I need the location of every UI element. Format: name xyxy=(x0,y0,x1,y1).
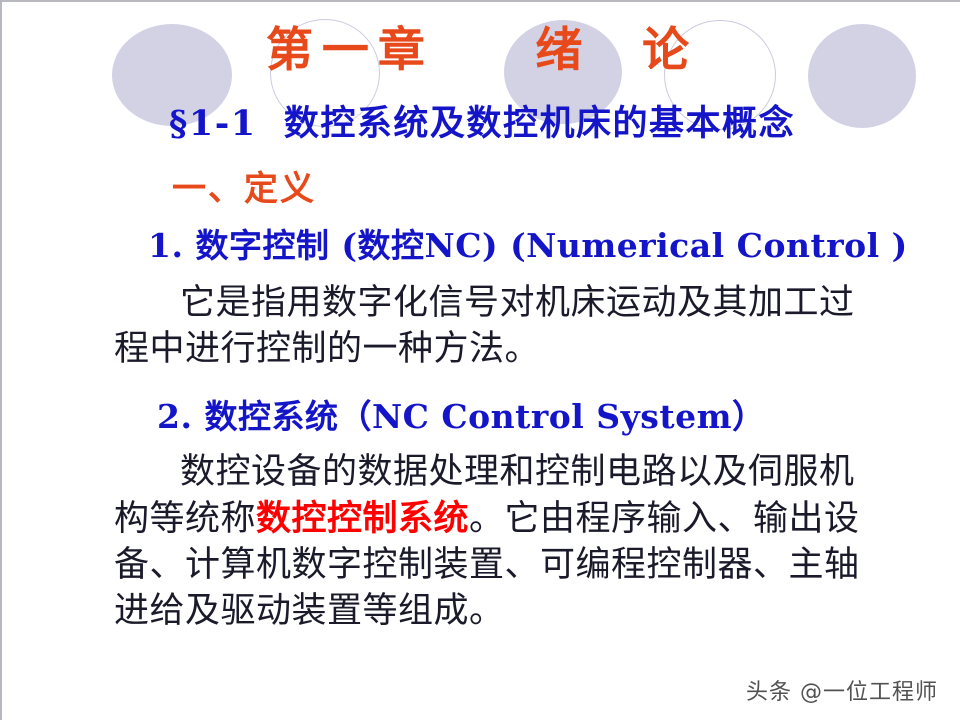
paragraph-item-1-line-2: 程中进行控制的一种方法。 xyxy=(114,326,932,372)
chapter-title: 第一章 绪 论 xyxy=(266,26,698,75)
paragraph-item-1: 它是指用数字化信号对机床运动及其加工过 程中进行控制的一种方法。 xyxy=(2,280,960,372)
chapter-title-container: 第一章 绪 论 xyxy=(2,26,960,75)
heading-definition: 一、定义 xyxy=(2,172,960,206)
heading-item-2: 2. 数控系统（NC Control System） xyxy=(2,400,960,433)
heading-item-1: 1. 数字控制 (数控NC) (Numerical Control ) xyxy=(2,229,960,262)
watermark: 头条 @一位工程师 xyxy=(746,674,938,706)
paragraph-item-2-line-2-suffix: 。它由程序输入、输出设 xyxy=(469,499,860,539)
slide-body: 一、定义 1. 数字控制 (数控NC) (Numerical Control )… xyxy=(2,172,960,634)
paragraph-item-2-line-4: 进给及驱动装置等组成。 xyxy=(114,588,932,634)
emphasis-nc-control-system: 数控控制系统 xyxy=(256,498,469,539)
paragraph-item-2-line-2-prefix: 构等统称 xyxy=(114,499,256,539)
slide-canvas: 第一章 绪 论 §1-1 数控系统及数控机床的基本概念 一、定义 1. 数字控制… xyxy=(0,0,960,720)
paragraph-item-2: 数控设备的数据处理和控制电路以及伺服机 构等统称数控控制系统。它由程序输入、输出… xyxy=(2,449,960,634)
section-title-container: §1-1 数控系统及数控机床的基本概念 xyxy=(2,105,960,144)
paragraph-item-2-line-2: 构等统称数控控制系统。它由程序输入、输出设 xyxy=(114,496,932,542)
paragraph-item-2-line-3: 备、计算机数字控制装置、可编程控制器、主轴 xyxy=(114,542,932,588)
section-title: §1-1 数控系统及数控机床的基本概念 xyxy=(169,105,795,144)
paragraph-item-2-line-1: 数控设备的数据处理和控制电路以及伺服机 xyxy=(114,449,932,495)
paragraph-item-1-line-1: 它是指用数字化信号对机床运动及其加工过 xyxy=(114,280,932,326)
